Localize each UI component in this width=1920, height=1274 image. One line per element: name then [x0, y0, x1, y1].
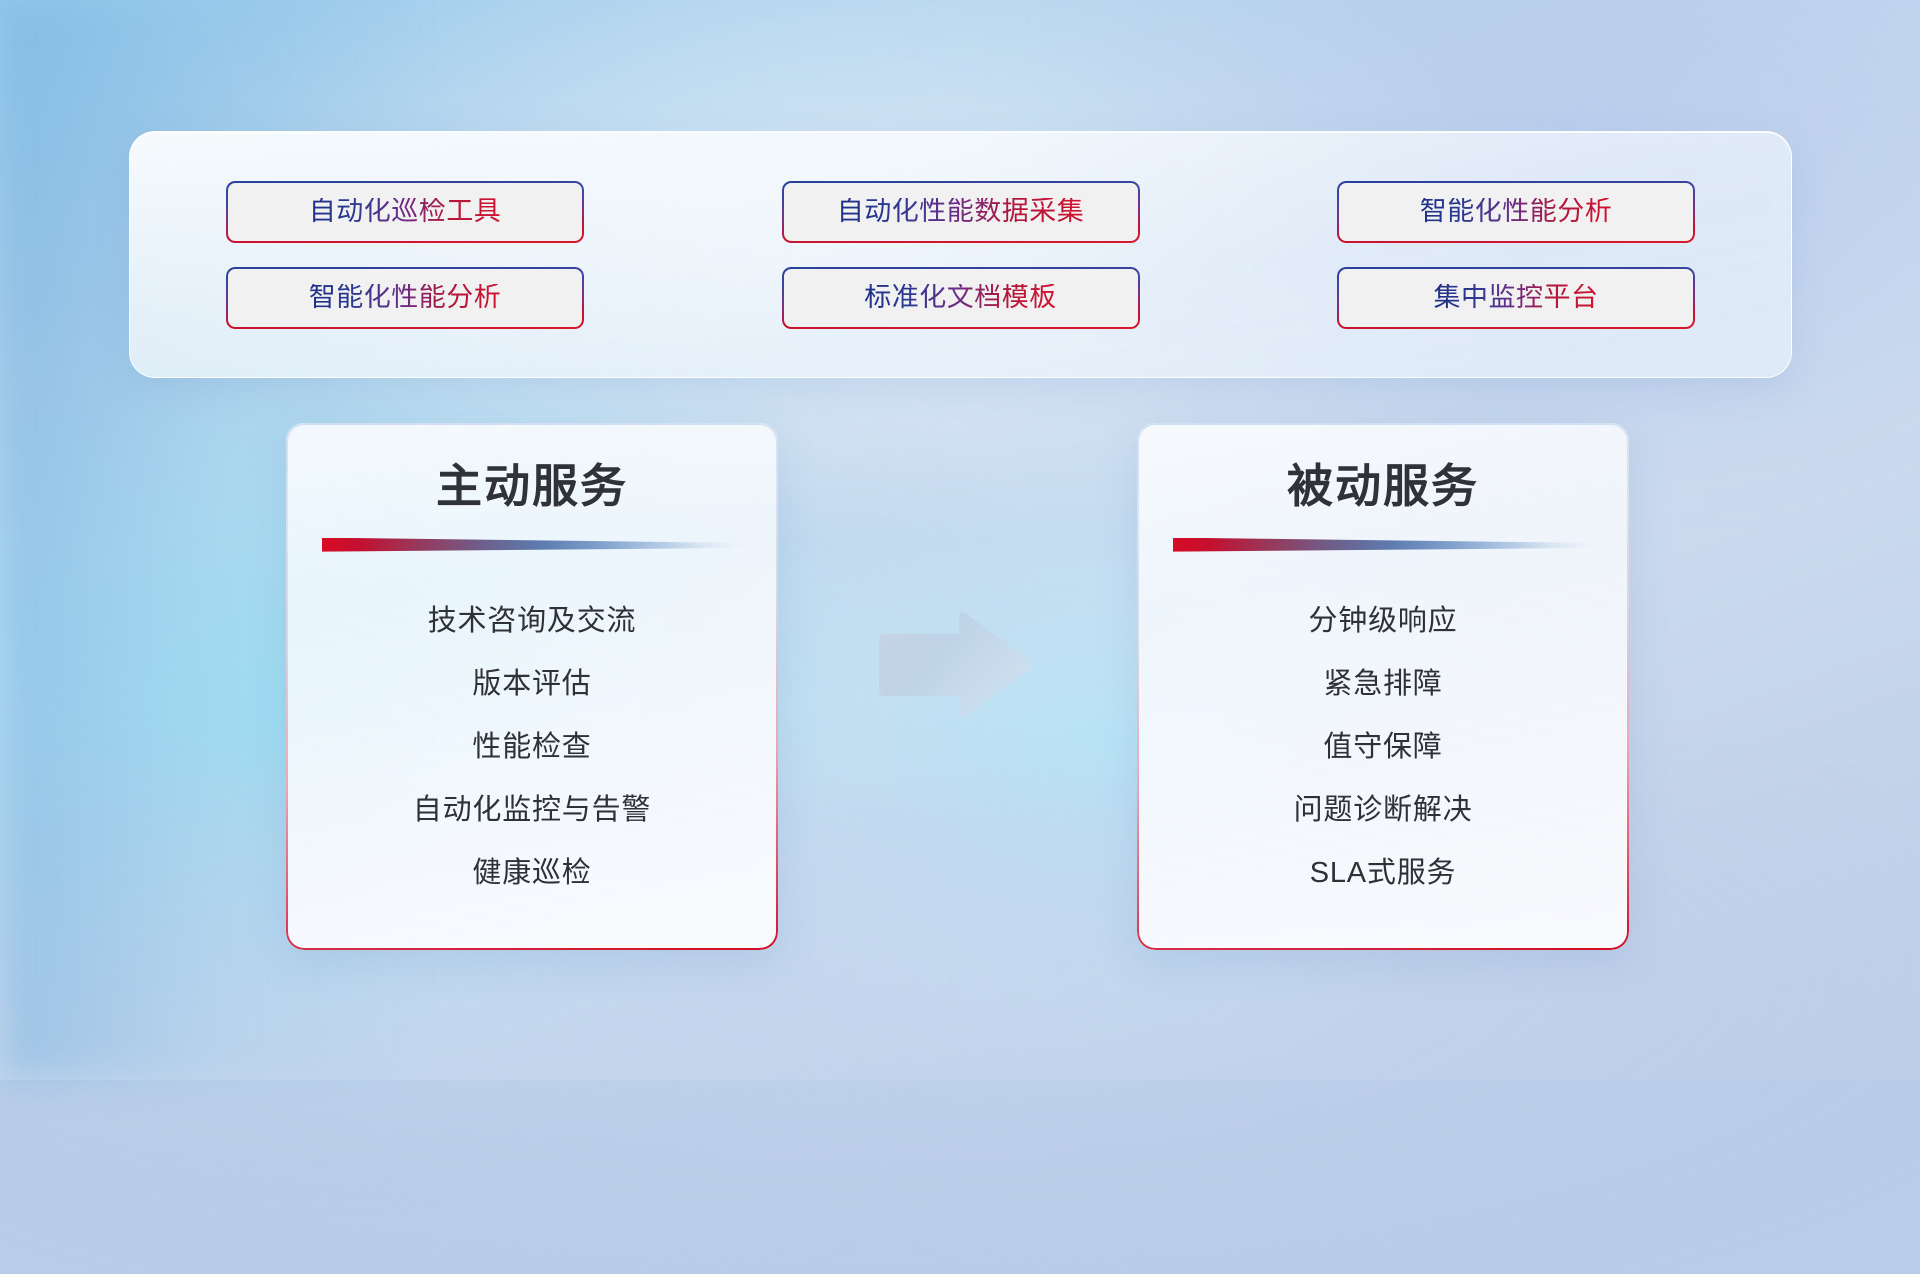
service-item-list: 分钟级响应 紧急排障 值守保障 问题诊断解决 SLA式服务	[1137, 556, 1629, 905]
capability-panel: 自动化巡检工具 自动化性能数据采集 智能化性能分析 智能化性能分析 标准化文档模…	[129, 131, 1792, 378]
capability-chip-intelligent-performance-analysis[interactable]: 智能化性能分析	[1337, 181, 1695, 243]
service-list-item: 问题诊断解决	[1137, 779, 1629, 842]
capability-chip-automated-performance-collection[interactable]: 自动化性能数据采集	[782, 181, 1140, 243]
service-list-item: 版本评估	[286, 653, 778, 716]
capability-chip-label: 自动化性能数据采集	[837, 198, 1085, 225]
service-list-item: 技术咨询及交流	[286, 590, 778, 653]
service-list-item: 分钟级响应	[1137, 590, 1629, 653]
capability-row-2: 智能化性能分析 标准化文档模板 集中监控平台	[130, 267, 1791, 329]
capability-chip-standard-doc-template[interactable]: 标准化文档模板	[782, 267, 1140, 329]
capability-chip-central-monitoring-platform[interactable]: 集中监控平台	[1337, 267, 1695, 329]
service-item-list: 技术咨询及交流 版本评估 性能检查 自动化监控与告警 健康巡检	[286, 556, 778, 905]
service-card-active: 主动服务 技术咨询及交流 版本评估 性能检查 自动化监控与告警 健康巡检	[286, 423, 778, 950]
capability-chip-intelligent-performance-analysis-2[interactable]: 智能化性能分析	[226, 267, 584, 329]
capability-chip-label: 自动化巡检工具	[309, 198, 502, 225]
service-list-item: 值守保障	[1137, 716, 1629, 779]
service-card-passive: 被动服务 分钟级响应 紧急排障 值守保障 问题诊断解决 SLA式服务	[1137, 423, 1629, 950]
arrow-right-icon	[875, 610, 1035, 720]
service-card-title: 主动服务	[286, 423, 778, 512]
card-divider	[322, 538, 742, 556]
service-list-item: 自动化监控与告警	[286, 779, 778, 842]
card-divider	[1173, 538, 1593, 556]
capability-chip-automated-inspection-tool[interactable]: 自动化巡检工具	[226, 181, 584, 243]
card-divider-bar	[1173, 538, 1593, 552]
service-card-title: 被动服务	[1137, 423, 1629, 512]
capability-chip-label: 智能化性能分析	[1420, 198, 1613, 225]
capability-row-1: 自动化巡检工具 自动化性能数据采集 智能化性能分析	[130, 181, 1791, 243]
service-list-item: 紧急排障	[1137, 653, 1629, 716]
capability-chip-label: 智能化性能分析	[309, 284, 502, 311]
capability-chip-label: 集中监控平台	[1434, 284, 1599, 311]
service-list-item: 健康巡检	[286, 842, 778, 905]
card-divider-bar	[322, 538, 742, 552]
capability-chip-label: 标准化文档模板	[864, 284, 1057, 311]
service-list-item: 性能检查	[286, 716, 778, 779]
service-list-item: SLA式服务	[1137, 842, 1629, 905]
